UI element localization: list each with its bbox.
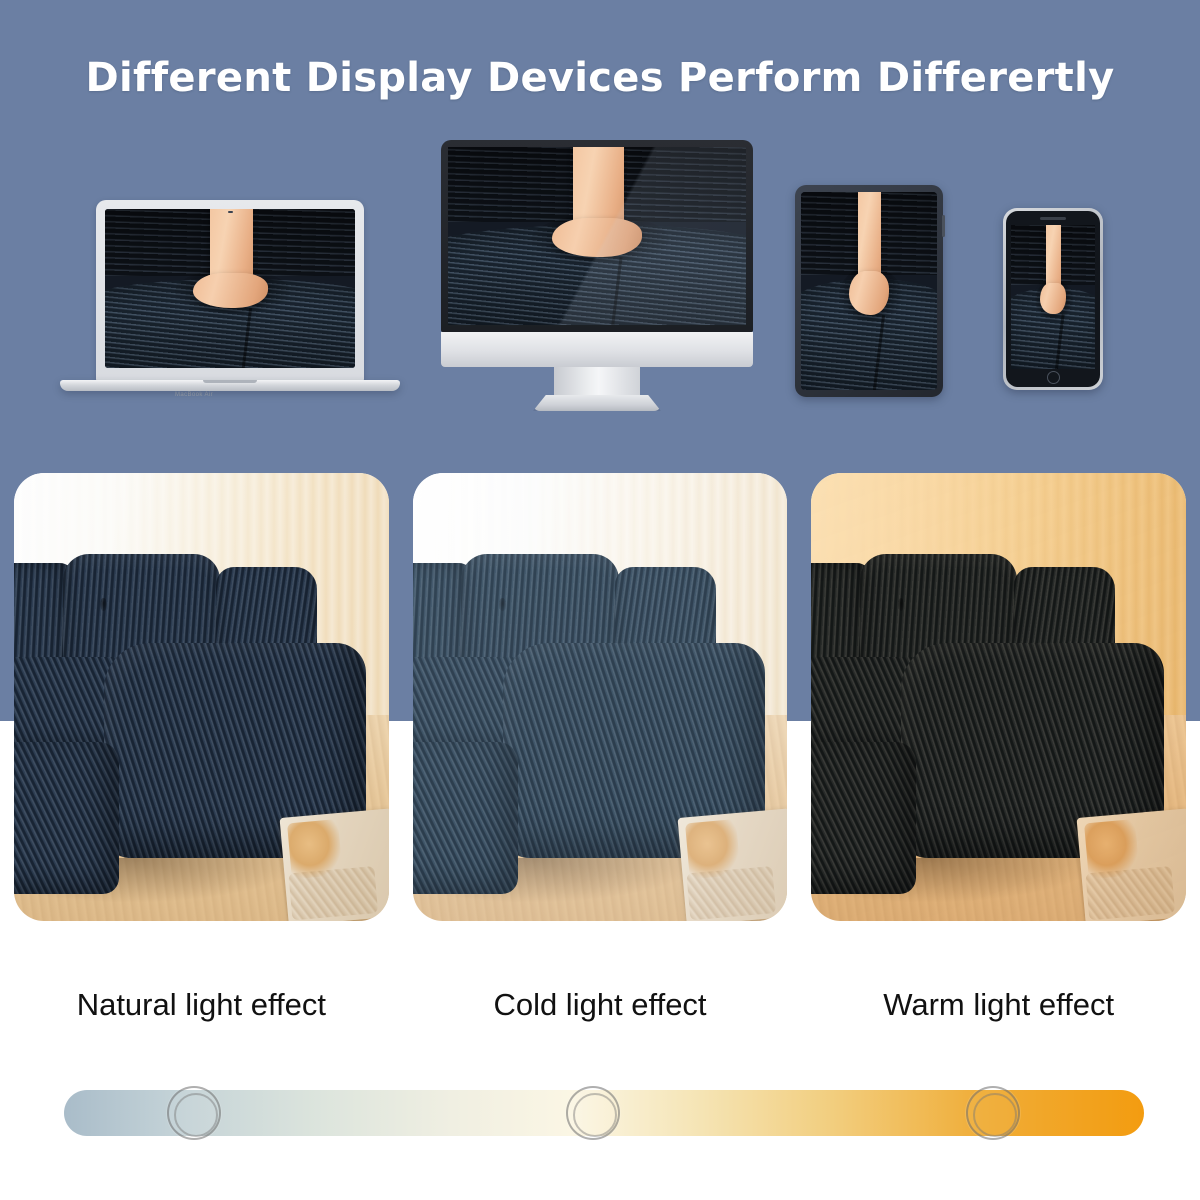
phone-home-button-icon[interactable] (1047, 371, 1060, 384)
wallpaper-foot-on-sofa (1011, 225, 1095, 369)
page-title: Different Display Devices Perform Differ… (0, 55, 1200, 101)
phone-screen (1011, 225, 1095, 369)
light-temperature-slider[interactable] (64, 1090, 1144, 1136)
slider-handle-natural[interactable] (167, 1086, 221, 1140)
laptop-camera-icon (228, 211, 233, 213)
sofa-tuft-button (499, 598, 506, 612)
photo-card-warm (811, 473, 1186, 921)
device-laptop: MacBook Air (60, 200, 400, 400)
laptop-brand-label: MacBook Air (60, 392, 328, 398)
lighting-comparison-row (14, 473, 1186, 921)
monitor-chin (441, 332, 753, 367)
device-mockup-group: MacBook Air (0, 130, 1200, 420)
caption-row: Natural light effect Cold light effect W… (14, 975, 1186, 1035)
sofa-ottoman (811, 742, 916, 894)
wallpaper-foot (1040, 283, 1065, 315)
sofa-tuft-button (898, 598, 905, 612)
device-tablet (795, 185, 943, 397)
phone-frame (1003, 208, 1103, 390)
laptop-base (60, 380, 400, 391)
laptop-lid (96, 200, 364, 382)
wallpaper-foot (849, 271, 890, 315)
monitor-stand-base (533, 395, 661, 411)
photo-card-cold (413, 473, 788, 921)
monitor-bezel (441, 140, 753, 332)
monitor-screen (448, 147, 746, 325)
wallpaper-foot-on-sofa (801, 192, 937, 390)
wallpaper-foot (193, 273, 268, 308)
laptop-trackpad-notch (203, 380, 257, 383)
floor-magazine (1077, 809, 1186, 921)
phone-bezel (1006, 211, 1100, 387)
caption-natural: Natural light effect (14, 975, 389, 1035)
laptop-screen (105, 209, 355, 368)
marketing-infographic: Different Display Devices Perform Differ… (0, 0, 1200, 1200)
sofa-ottoman (413, 742, 518, 894)
tablet-power-button[interactable] (942, 215, 945, 237)
slider-handle-cold[interactable] (566, 1086, 620, 1140)
floor-magazine (279, 809, 388, 921)
sofa-photo (811, 473, 1186, 921)
floor-magazine (678, 809, 787, 921)
tablet-screen (801, 192, 937, 390)
sofa-photo (14, 473, 389, 921)
sofa-photo (413, 473, 788, 921)
photo-card-natural (14, 473, 389, 921)
device-phone (1003, 208, 1103, 390)
sofa-tuft-button (100, 598, 107, 612)
sofa-ottoman (14, 742, 119, 894)
device-desktop-monitor (434, 140, 760, 415)
wallpaper-foot-on-sofa (105, 209, 355, 368)
slider-handle-warm[interactable] (966, 1086, 1020, 1140)
wallpaper-foot-on-sofa (448, 147, 746, 325)
caption-cold: Cold light effect (413, 975, 788, 1035)
caption-warm: Warm light effect (811, 975, 1186, 1035)
phone-earpiece-icon (1040, 217, 1066, 220)
tablet-body (795, 185, 943, 397)
wallpaper-foot (552, 218, 641, 257)
